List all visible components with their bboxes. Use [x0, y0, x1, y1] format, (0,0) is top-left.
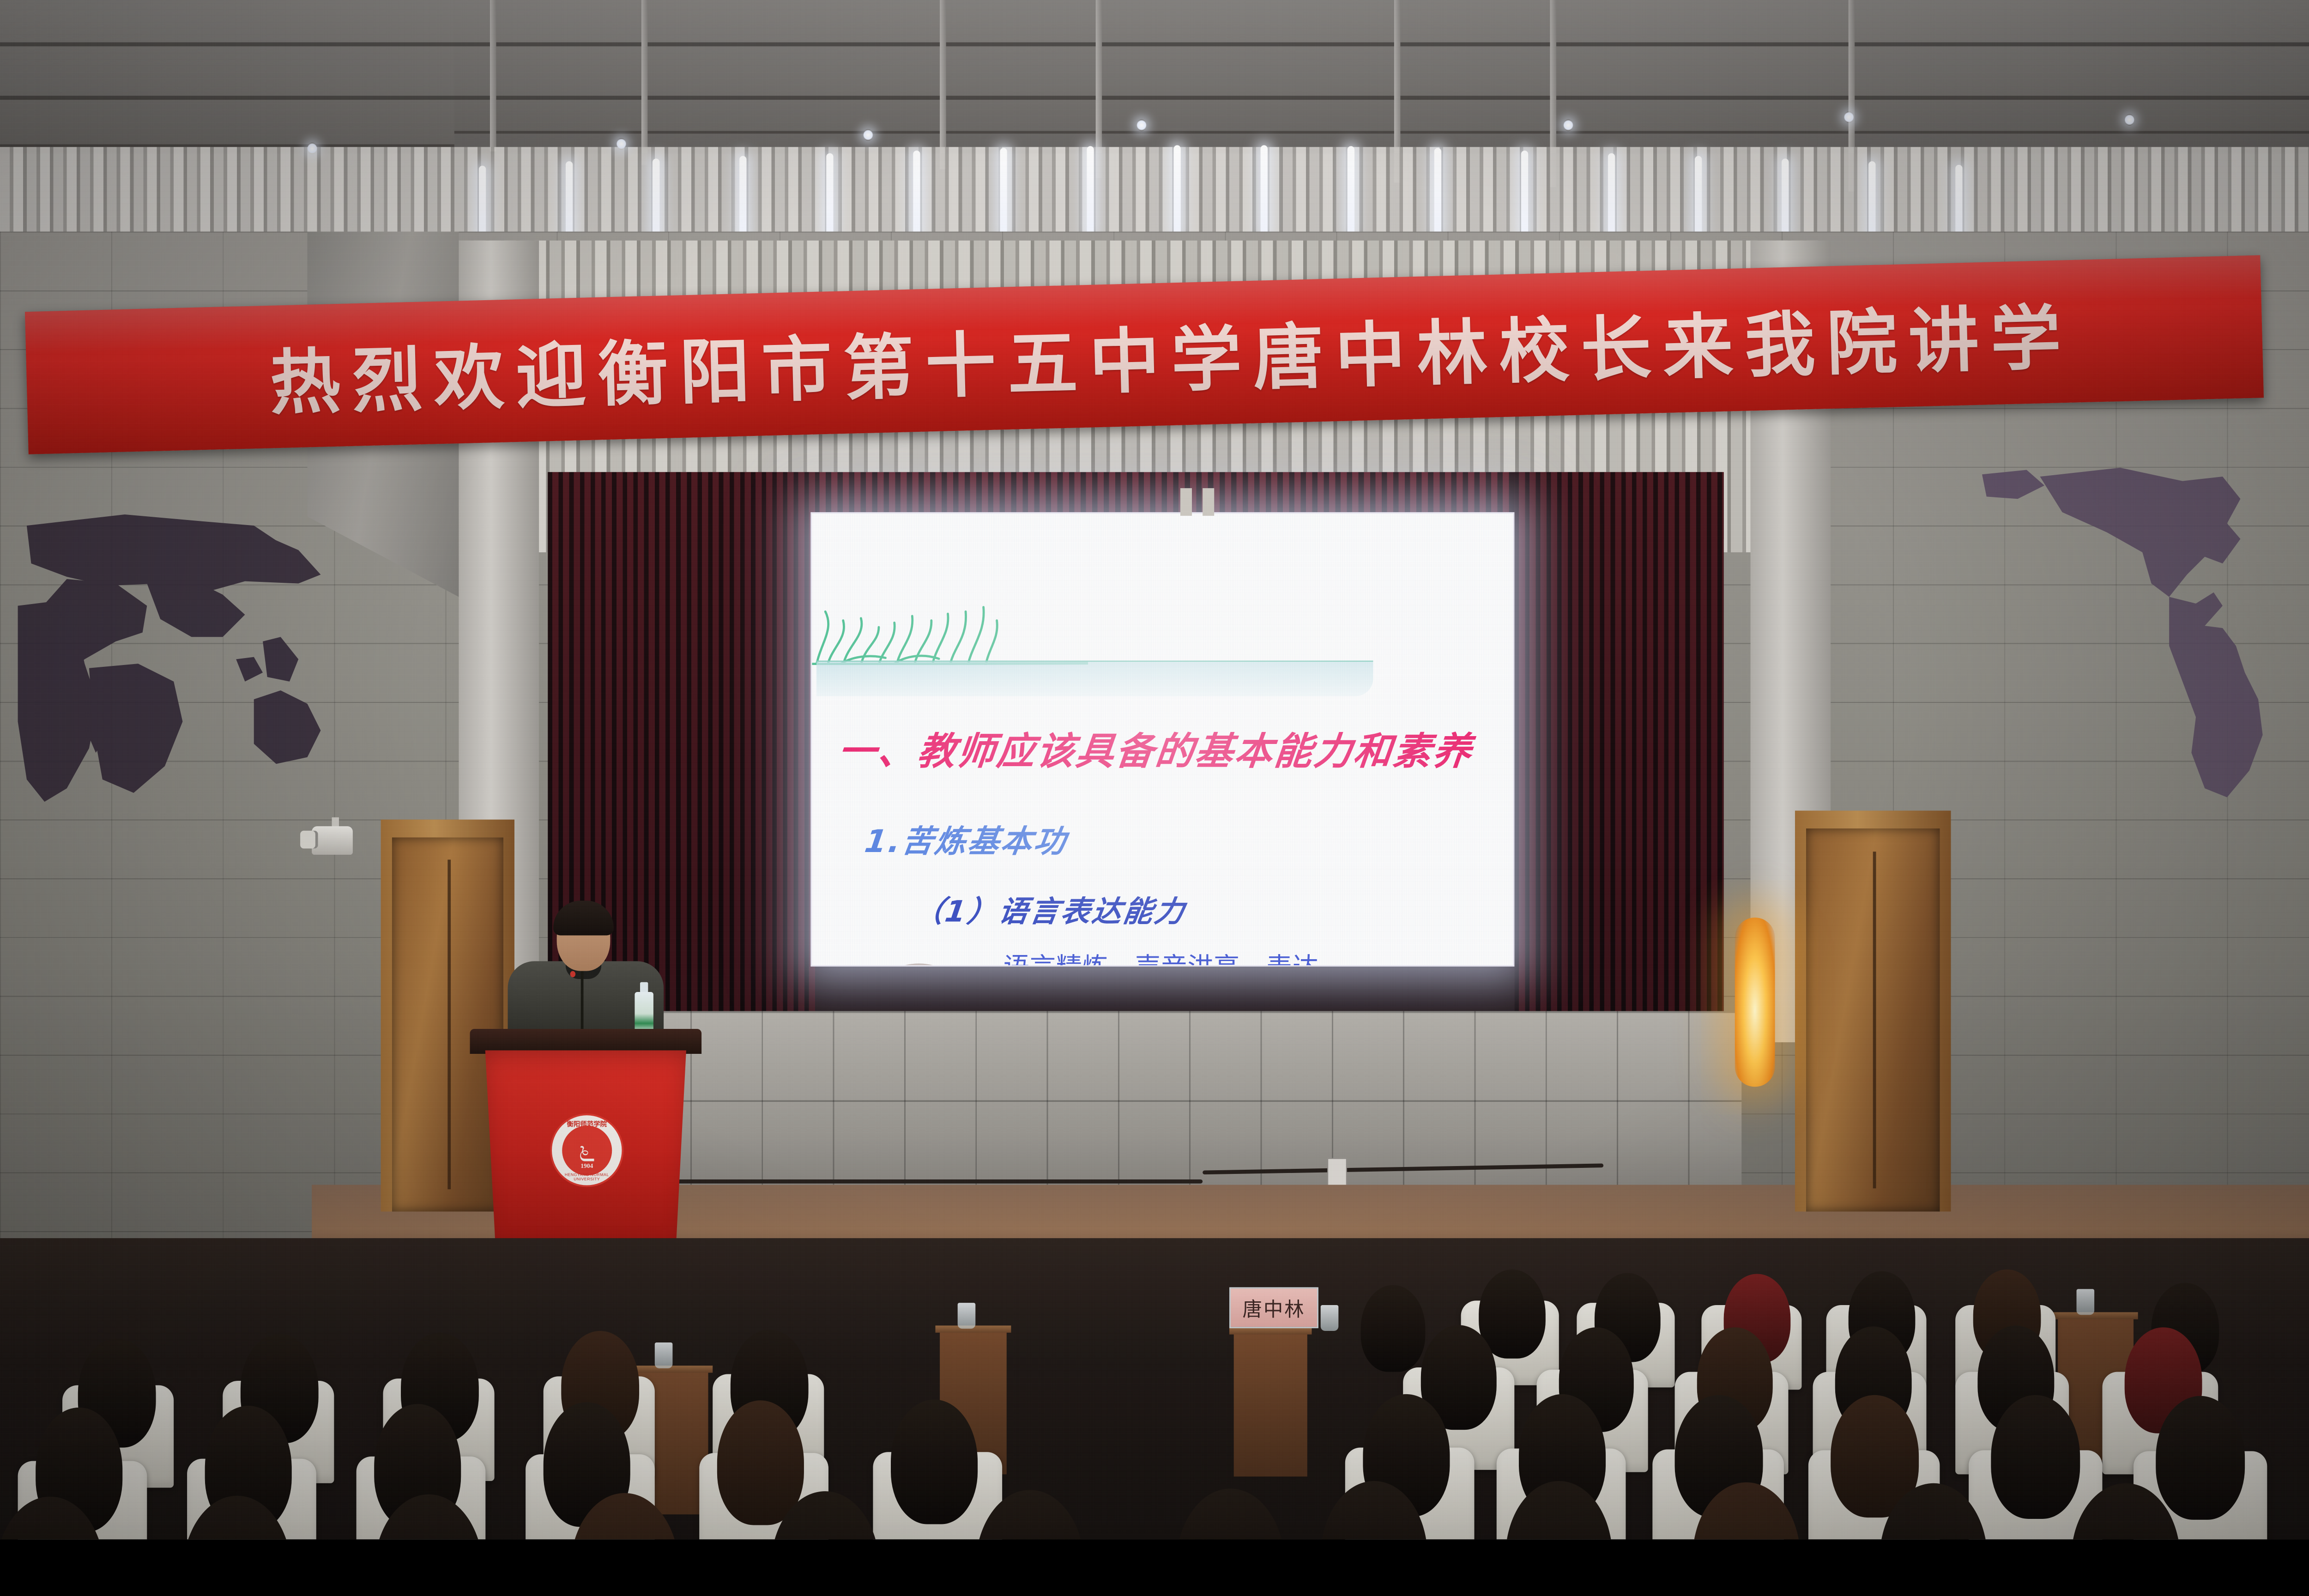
ceiling-tube-light — [826, 153, 833, 238]
side-table — [1234, 1330, 1307, 1476]
ceiling-tube-light — [1000, 148, 1007, 236]
ceiling-tube-light — [1087, 146, 1094, 235]
ceiling-tube-light — [1782, 158, 1789, 240]
ceiling-tube-light — [566, 161, 573, 242]
ceiling-tube-light — [479, 166, 486, 242]
ceiling-downlight — [617, 138, 626, 150]
ceiling-tube-light — [1261, 145, 1268, 235]
ceiling-tube-light — [739, 156, 746, 239]
ceiling-tube-light — [1868, 161, 1875, 241]
emblem-english-name: HENGYANG NORMAL UNIVERSITY — [552, 1173, 622, 1181]
wall-power-outlet[interactable] — [1327, 1158, 1347, 1186]
screen-hanger-clip — [1180, 488, 1192, 516]
ceiling-tube-light — [1608, 153, 1615, 238]
university-emblem: 衡阳师范学院 ೬ 1904 HENGYANG NORMAL UNIVERSITY — [550, 1113, 623, 1187]
paper-cup — [1321, 1305, 1339, 1331]
paper-cup — [958, 1303, 976, 1329]
ceiling-downlight — [1844, 111, 1854, 123]
ceiling-downlight — [1136, 119, 1146, 131]
surveillance-camera-icon — [312, 826, 353, 855]
speaker-zipper — [581, 971, 584, 1038]
slide-subheading-2: （1）语言表达能力 — [912, 888, 1189, 931]
ceiling-downlight — [2125, 114, 2134, 126]
world-map-decal-west — [1973, 450, 2309, 802]
ceiling-tube-light — [653, 158, 659, 240]
lapel-microphone-icon — [570, 971, 576, 978]
water-bottle — [635, 982, 653, 1036]
ceiling-downlight — [1563, 119, 1573, 131]
ceiling-beam — [0, 96, 2309, 100]
ceiling-rib — [490, 0, 496, 151]
audience-head — [1479, 1270, 1546, 1359]
ceiling-rib — [940, 0, 946, 169]
slide-lily-photo-icon — [863, 963, 974, 967]
slide-heading: 一、教师应该具备的基本能力和素养 — [836, 721, 1501, 776]
speaker-hair — [553, 901, 614, 935]
audience-head — [2156, 1396, 2245, 1520]
audience-head — [1991, 1395, 2080, 1519]
ceiling-downlight — [863, 129, 873, 141]
podium-desktop — [470, 1029, 702, 1054]
ceiling-tube-light — [1348, 146, 1354, 235]
side-table-top — [633, 1366, 713, 1372]
ceiling-tube-light — [1955, 165, 1962, 242]
world-map-decal-east — [13, 472, 325, 819]
emblem-founding-year: 1904 — [552, 1163, 622, 1170]
ceiling-beam — [0, 42, 2309, 47]
audience-head — [891, 1399, 978, 1524]
side-table-top — [1229, 1327, 1312, 1334]
guest-name-card: 唐中林 — [1229, 1287, 1318, 1328]
slide-header-band — [816, 660, 1373, 696]
guest-name-text: 唐中林 — [1242, 1294, 1305, 1322]
ceiling-tube-light — [1695, 156, 1702, 239]
emblem-flame-icon: ೬ — [578, 1135, 596, 1166]
side-table-top — [2053, 1312, 2138, 1319]
welcome-banner-text: 热烈欢迎衡阳市第十五中学唐中林校长来我院讲学 — [215, 280, 2073, 429]
slide-grass-decoration-icon — [812, 603, 1088, 665]
ceiling-coffer-right — [1211, 0, 2309, 133]
ceiling-tube-light — [1521, 151, 1528, 237]
projection-screen: 一、教师应该具备的基本能力和素养 1.苦炼基本功 （1）语言表达能力 语言精炼，… — [810, 512, 1514, 967]
ceiling-tube-light — [1434, 148, 1441, 236]
audience-head — [1361, 1285, 1426, 1372]
wall-sconce-light — [1735, 918, 1775, 1087]
audience-seating-area: 唐中林 — [0, 1238, 2309, 1539]
paper-cup — [2077, 1289, 2095, 1315]
audience-head — [1176, 1488, 1285, 1539]
ceiling-tube-light — [1173, 145, 1180, 235]
slide-subheading-1: 1.苦炼基本功 — [862, 816, 1070, 861]
audience-head — [717, 1400, 804, 1525]
bottle-cap — [640, 982, 648, 993]
ceiling-rib — [641, 0, 648, 165]
ceiling-coffer-left — [0, 0, 454, 147]
ceiling-tube-light — [913, 151, 920, 237]
screen-hanger-clip — [1203, 488, 1214, 516]
slide-body-text: 语言精炼，声音洪亮，表达清楚，提问明确，由浅入深，层层递进，环环相扣，过渡自然，… — [1003, 950, 1324, 967]
ceiling-downlight — [308, 143, 317, 154]
door-right[interactable] — [1806, 828, 1940, 1211]
lecture-hall-photo: 热烈欢迎衡阳市第十五中学唐中林校长来我院讲学 — [0, 0, 2309, 1539]
paper-cup — [655, 1342, 673, 1368]
